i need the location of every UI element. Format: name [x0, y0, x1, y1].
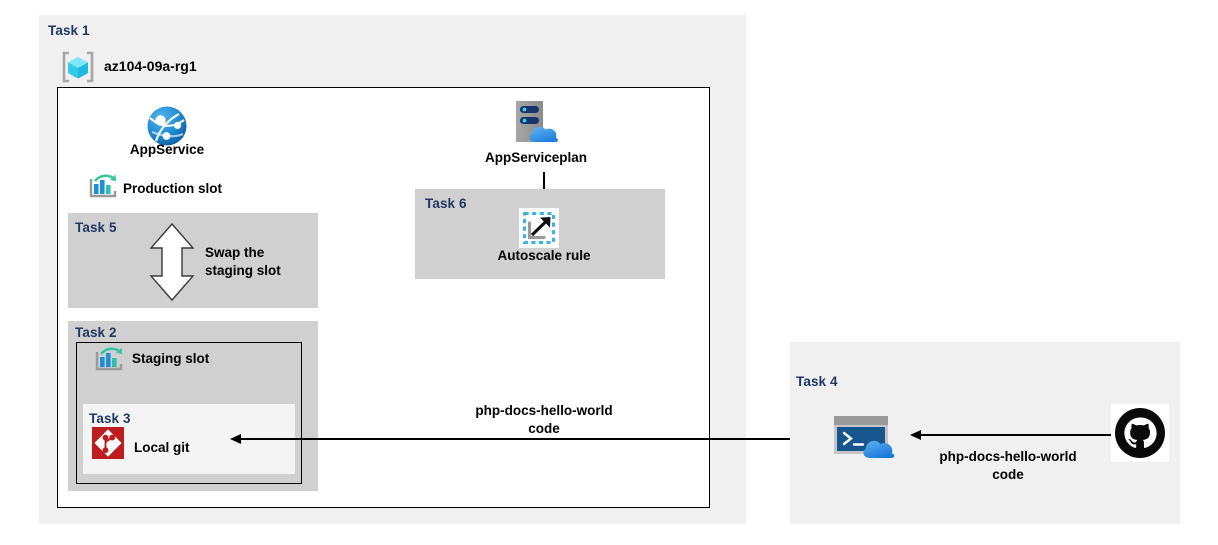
diagram-canvas: Task 1 az104-09a-rg1 [0, 0, 1218, 545]
arrow-github-to-cloudshell-head [910, 430, 921, 440]
deployment-slot-icon [88, 173, 118, 201]
arrow-cloudshell-to-localgit-head [230, 434, 241, 444]
swap-slot-label-line1: Swap the [205, 244, 281, 262]
staging-slot-label: Staging slot [132, 351, 209, 368]
edge-label-github-to-cloudshell: php-docs-hello-world code [916, 448, 1100, 484]
resource-group-icon [60, 50, 96, 84]
arrow-github-to-cloudshell-line [920, 434, 1112, 436]
swap-updown-arrow-icon [146, 222, 198, 302]
app-service-plan-label: AppServiceplan [456, 150, 616, 167]
swap-slot-label: Swap the staging slot [205, 244, 281, 280]
edge-label-line2: code [916, 466, 1100, 484]
task6-label: Task 6 [425, 196, 467, 211]
task1-label: Task 1 [48, 23, 90, 38]
edge-label-line1: php-docs-hello-world [452, 402, 636, 420]
autoscale-icon [519, 208, 559, 248]
cloud-shell-icon [832, 414, 900, 460]
app-service-label: AppService [110, 142, 224, 159]
git-icon [92, 427, 124, 459]
autoscale-rule-label: Autoscale rule [460, 248, 628, 265]
arrow-cloudshell-to-localgit-line [240, 438, 832, 440]
task3-label: Task 3 [89, 411, 131, 426]
app-service-plan-icon [508, 98, 564, 146]
production-slot-label: Production slot [123, 181, 222, 198]
edge-label-line1: php-docs-hello-world [916, 448, 1100, 466]
task4-label: Task 4 [796, 374, 838, 389]
swap-slot-label-line2: staging slot [205, 262, 281, 280]
task2-label: Task 2 [75, 325, 117, 340]
resource-group-label: az104-09a-rg1 [104, 58, 197, 76]
deployment-slot-icon [94, 346, 124, 374]
app-service-icon [146, 105, 188, 147]
edge-label-line2: code [452, 420, 636, 438]
github-icon [1111, 404, 1169, 462]
local-git-label: Local git [134, 440, 190, 457]
task5-label: Task 5 [75, 220, 117, 235]
edge-label-cloudshell-to-localgit: php-docs-hello-world code [452, 402, 636, 438]
